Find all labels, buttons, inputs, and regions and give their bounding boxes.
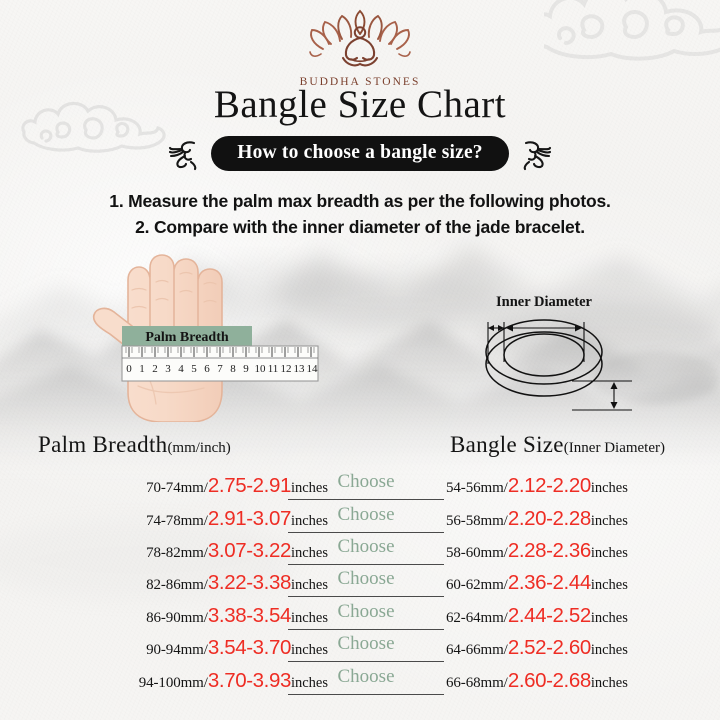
palm-breadth-mm: 86-90mm [146,610,204,626]
scroll-flourish-right-icon [519,137,553,171]
choose-label[interactable]: Choose [286,471,446,493]
palm-breadth-mm: 90-94mm [146,642,204,658]
bangle-size-mm: 62-64mm [446,610,504,626]
bangle-size-mm: 66-68mm [446,675,504,691]
palm-breadth-mm: 94-100mm [139,675,204,691]
svg-text:3: 3 [165,363,171,375]
bangle-size-cell: 64-66mm/2.52-2.60inches [446,636,628,660]
palm-breadth-mm: 74-78mm [146,513,204,529]
choose-underline [288,532,444,533]
svg-text:9: 9 [243,363,249,375]
bangle-size-cell: 58-60mm/2.28-2.36inches [446,539,628,563]
palm-breadth-inch: 3.38-3.54 [208,604,291,627]
choose-underline [288,661,444,662]
choose-label[interactable]: Choose [286,568,446,590]
table-row: 74-78mm/2.91-3.07inchesChoose56-58mm/2.2… [0,502,720,534]
svg-text:7: 7 [217,363,223,375]
bangle-size-inch: 2.12-2.20 [508,474,591,497]
bangle-size-cell: 60-62mm/2.36-2.44inches [446,571,628,595]
bangle-size-inch: 2.44-2.52 [508,604,591,627]
palm-breadth-mm: 70-74mm [146,480,204,496]
inch-unit-label: inches [591,480,628,496]
choose-size-control[interactable]: Choose [286,536,446,566]
table-row: 94-100mm/3.70-3.93inchesChoose66-68mm/2.… [0,664,720,696]
bangle-size-mm: 56-58mm [446,513,504,529]
choose-size-control[interactable]: Choose [286,633,446,663]
instructions-block: 1. Measure the palm max breadth as per t… [0,188,720,240]
table-header-bangle-size-main: Bangle Size [450,432,564,457]
choose-size-control[interactable]: Choose [286,504,446,534]
palm-breadth-inch: 3.70-3.93 [208,669,291,692]
svg-text:8: 8 [230,363,236,375]
svg-text:6: 6 [204,363,210,375]
open-palm-hand-icon: Palm Breadth [78,252,328,422]
palm-breadth-inch: 2.75-2.91 [208,474,291,497]
choose-label[interactable]: Choose [286,633,446,655]
svg-text:12: 12 [281,363,292,375]
bangle-ring-icon: Inner Diameter [448,292,658,422]
table-row: 82-86mm/3.22-3.38inchesChoose60-62mm/2.3… [0,567,720,599]
svg-text:4: 4 [178,363,184,375]
brand-logo: BUDDHA STONES [0,8,720,88]
palm-breadth-inch: 3.54-3.70 [208,636,291,659]
palm-breadth-mm: 78-82mm [146,545,204,561]
bangle-size-cell: 54-56mm/2.12-2.20inches [446,474,628,498]
table-header-palm-breadth: Palm Breadth(mm/inch) [38,432,231,458]
instruction-line-2: 2. Compare with the inner diameter of th… [0,214,720,240]
choose-label[interactable]: Choose [286,504,446,526]
choose-label[interactable]: Choose [286,666,446,688]
choose-underline [288,629,444,630]
choose-label[interactable]: Choose [286,536,446,558]
inch-unit-label: inches [591,577,628,593]
table-row: 78-82mm/3.07-3.22inchesChoose58-60mm/2.2… [0,535,720,567]
palm-breadth-label-text: Palm Breadth [145,330,229,345]
palm-breadth-inch: 2.91-3.07 [208,507,291,530]
inch-unit-label: inches [591,545,628,561]
choose-size-control[interactable]: Choose [286,471,446,501]
table-row: 90-94mm/3.54-3.70inchesChoose64-66mm/2.5… [0,632,720,664]
table-header-palm-breadth-main: Palm Breadth [38,432,167,457]
palm-breadth-inch: 3.07-3.22 [208,539,291,562]
choose-size-control[interactable]: Choose [286,568,446,598]
table-header-bangle-size-unit: (Inner Diameter) [564,440,665,456]
bangle-size-inch: 2.60-2.68 [508,669,591,692]
inch-unit-label: inches [591,675,628,691]
bangle-size-inch: 2.20-2.28 [508,507,591,530]
lotus-meditation-icon [301,8,419,70]
table-header-palm-breadth-unit: (mm/inch) [167,440,230,456]
bangle-size-mm: 60-62mm [446,577,504,593]
subtitle-row: How to choose a bangle size? [0,136,720,171]
inch-unit-label: inches [591,610,628,626]
table-header-bangle-size: Bangle Size(Inner Diameter) [450,432,665,458]
page-title: Bangle Size Chart [0,82,720,127]
choose-underline [288,499,444,500]
palm-breadth-inch: 3.22-3.38 [208,571,291,594]
instruction-line-1: 1. Measure the palm max breadth as per t… [0,188,720,214]
bangle-size-inch: 2.52-2.60 [508,636,591,659]
choose-size-control[interactable]: Choose [286,601,446,631]
bangle-size-mm: 54-56mm [446,480,504,496]
svg-text:2: 2 [152,363,158,375]
bangle-size-cell: 66-68mm/2.60-2.68inches [446,669,628,693]
palm-breadth-mm: 82-86mm [146,577,204,593]
choose-underline [288,596,444,597]
svg-text:10: 10 [255,363,267,375]
palm-breadth-label: Palm Breadth [122,326,252,346]
svg-text:5: 5 [191,363,197,375]
subtitle-pill: How to choose a bangle size? [211,136,509,171]
bangle-size-inch: 2.36-2.44 [508,571,591,594]
svg-text:1: 1 [139,363,145,375]
inner-diameter-caption: Inner Diameter [496,294,593,310]
ruler-icon: 012 345 678 91011 121314 [122,346,318,381]
scroll-flourish-left-icon [167,137,201,171]
svg-text:13: 13 [294,363,306,375]
bangle-size-cell: 56-58mm/2.20-2.28inches [446,507,628,531]
size-chart-page: BUDDHA STONES Bangle Size Chart How to c… [0,0,720,720]
choose-size-control[interactable]: Choose [286,666,446,696]
svg-text:14: 14 [307,363,319,375]
bangle-size-mm: 64-66mm [446,642,504,658]
inch-unit-label: inches [591,513,628,529]
svg-text:11: 11 [268,363,279,375]
choose-underline [288,564,444,565]
bangle-size-cell: 62-64mm/2.44-2.52inches [446,604,628,628]
bangle-size-inch: 2.28-2.36 [508,539,591,562]
table-row: 70-74mm/2.75-2.91inchesChoose54-56mm/2.1… [0,470,720,502]
svg-text:0: 0 [126,363,132,375]
size-rows: 70-74mm/2.75-2.91inchesChoose54-56mm/2.1… [0,470,720,697]
choose-underline [288,694,444,695]
bangle-size-mm: 58-60mm [446,545,504,561]
table-row: 86-90mm/3.38-3.54inchesChoose62-64mm/2.4… [0,600,720,632]
inch-unit-label: inches [591,642,628,658]
choose-label[interactable]: Choose [286,601,446,623]
